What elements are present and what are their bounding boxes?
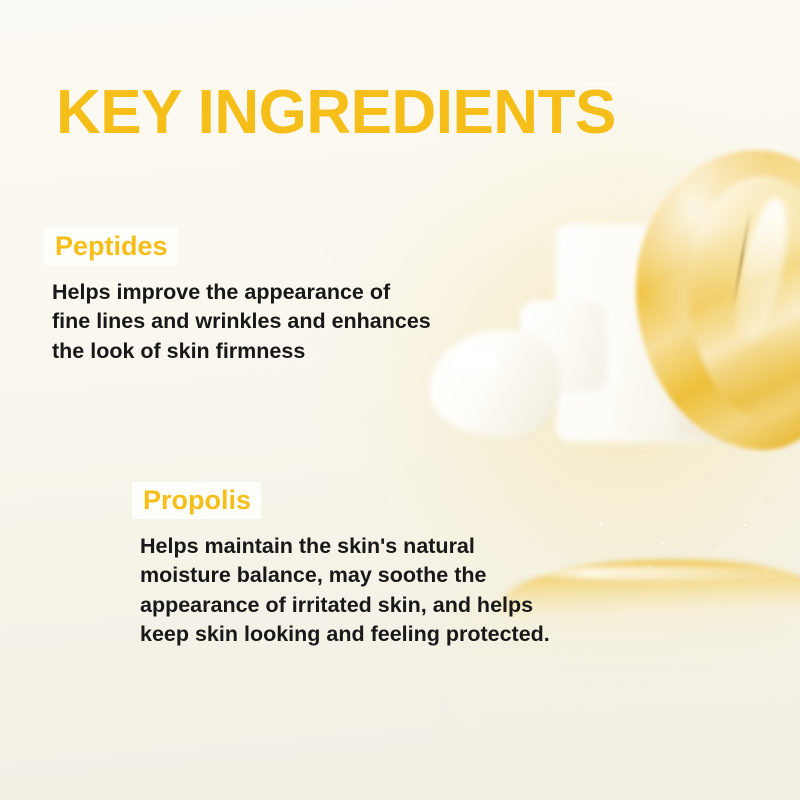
ingredient-name: Propolis xyxy=(143,485,251,515)
ingredient-block-peptides: Peptides Helps improve the appearance of… xyxy=(44,228,431,366)
ingredient-block-propolis: Propolis Helps maintain the skin's natur… xyxy=(132,482,550,649)
ingredient-description: Helps maintain the skin's natural moistu… xyxy=(140,532,550,649)
key-ingredients-graphic: KEY INGREDIENTS Peptides Helps improve t… xyxy=(0,0,800,800)
ingredient-name: Peptides xyxy=(55,231,168,261)
page-title: KEY INGREDIENTS xyxy=(56,82,616,144)
ingredient-name-highlight: Peptides xyxy=(44,228,178,265)
ingredient-description: Helps improve the appearance of fine lin… xyxy=(52,278,431,366)
ingredient-name-highlight: Propolis xyxy=(132,482,261,519)
content-layer: KEY INGREDIENTS Peptides Helps improve t… xyxy=(0,0,800,800)
